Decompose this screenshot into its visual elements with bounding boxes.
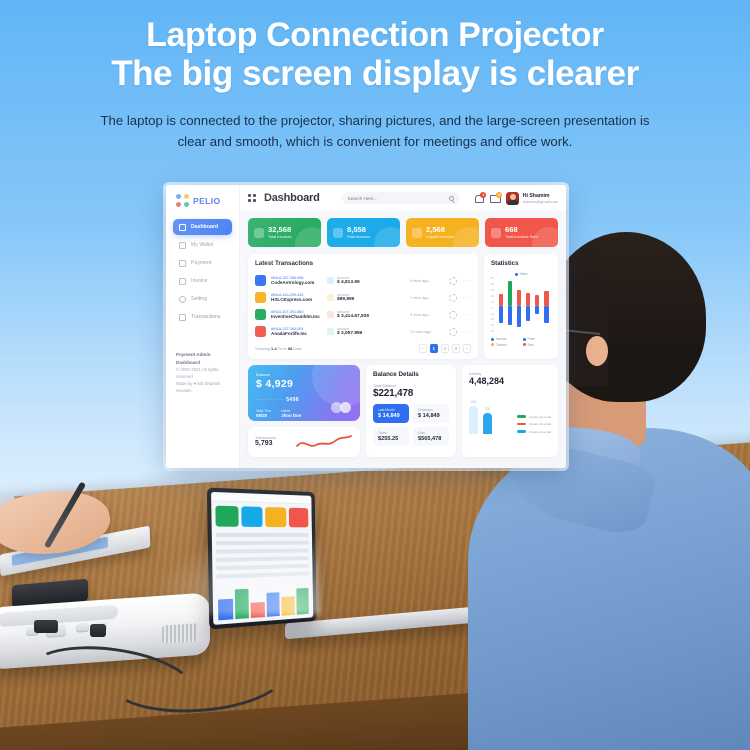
stat-label: Unpaid Invoices [426,234,454,239]
legend-label: Sent [528,343,535,347]
legend-label: Taxinvo [496,343,507,347]
sidebar-item-label: Setting [191,296,207,302]
balance-cell-taxes[interactable]: Taxes $255.25 [373,427,409,446]
dashboard-content: 32,568 Total Invoices 8,558 Paid Invoice… [240,211,566,464]
card-number: ···· ···· ···· 5498 [256,397,352,403]
page-title: Dashboard [264,192,320,204]
wallet-column: Balance $ 4,929 ···· ···· ···· 5498 Vali… [248,365,360,457]
projector-light-glow [120,520,320,615]
card-icon [179,260,186,267]
showing-text: Showing 1-4 From 88 Data [255,346,302,351]
y-tick: 0 [491,308,498,311]
balance-label: Balance [256,372,352,377]
total-balance-value: $221,478 [373,388,449,399]
legend-item: Invoice all email [517,430,551,434]
chart-bar-group [534,278,542,334]
sidebar-item-label: Transactions [191,314,221,320]
transactions-summary-card[interactable]: Transactions 5,793 [248,427,360,457]
y-tick: 40 [491,331,498,334]
transaction-amount: $ 4,813.99 [337,280,360,285]
promo-banner: Laptop Connection Projector The big scre… [0,0,750,152]
more-options-icon[interactable]: ··· [462,329,471,335]
y-tick: 30 [491,290,498,293]
stat-value: 668 [505,226,538,234]
pagination-prev[interactable]: ‹ [419,344,428,353]
mastercard-icon [331,402,351,413]
card-last4: 5498 [286,397,299,403]
panel-title: Latest Transactions [255,260,471,267]
chart-top-legend-label: Sales [520,272,528,276]
valid-thru-value: 09/25 [256,413,271,418]
avatar [506,192,519,205]
chart-top-legend: Sales [491,272,551,276]
bell-icon[interactable]: 3 [474,194,483,203]
sidebar-item-payment[interactable]: Payment [173,255,232,271]
amount-icon [327,294,334,301]
gear-icon[interactable] [449,311,457,319]
sidebar-item-transactions[interactable]: Transactions [173,309,232,325]
stat-label: Total Invoices [268,234,292,239]
balance-cell-expenses[interactable]: Expenses $ 14,849 [413,404,449,423]
credit-card[interactable]: Balance $ 4,929 ···· ···· ···· 5498 Vali… [248,365,360,421]
transaction-time: 12 mins ago [410,330,444,334]
topbar-actions: 3 12 Hi Shamim shamim@gmail.com [474,192,558,205]
invoice-icon [179,278,186,285]
y-tick: 10 [491,302,498,305]
cable-plug-2 [90,624,106,637]
stat-value: 32,568 [268,226,292,234]
legend-label: Price [528,337,535,341]
legend-item: Invoice all email [517,415,551,419]
y-tick: 10 [491,314,498,317]
legend-label: Invoice all email [529,422,551,426]
pagination-page-3[interactable]: 3 [452,344,461,353]
transaction-icon [255,309,266,320]
pagination-next[interactable]: › [463,344,472,353]
sidebar-item-label: Invoice [191,278,207,284]
showing-total: 88 [288,346,292,351]
mail-icon[interactable]: 12 [490,194,499,203]
cell-label: Taxes [378,431,404,435]
more-options-icon[interactable]: ··· [462,312,471,318]
legend-item: Invoice all email [517,422,551,426]
card-name-value: Jhon Doe [281,413,301,418]
dashboard-topbar: Dashboard 3 12 Hi Shamim shamim@gmail.co… [240,185,566,211]
sidebar-footer-credit: Made by ♥ Md Shamim Hossain [176,380,232,394]
transaction-amount: $ 3,414.67,939 [337,314,369,319]
search-icon[interactable] [449,196,454,201]
showing-prefix: Showing [255,346,270,351]
projector-button-3 [76,623,89,633]
balance-details-panel: Balance Details Total Balance $221,478 L… [366,365,456,457]
transfer-icon [179,314,186,321]
table-row[interactable]: #INLA-107-391-660 InventiveChamblm.Inc A… [255,306,471,323]
person-ear [586,336,608,366]
y-tick: 50 [491,278,498,281]
chart-bar-group [516,278,524,334]
transaction-time: 9 mins ago [410,313,444,317]
chart-y-axis: 50 40 30 20 10 0 10 20 30 40 [491,278,498,334]
cell-label: Last Month [378,408,404,412]
showing-mid: From [278,346,287,351]
sidebar-item-invoice[interactable]: Invoice [173,273,232,289]
sparkline-chart [295,433,353,451]
legend-label: Income [496,337,506,341]
brand-logo[interactable]: PELIO [173,194,232,207]
projected-dashboard-screen: PELIO Dashboard My Wallet Payment Invoic… [166,185,566,468]
activity-bar-value: 176 [485,407,490,411]
transaction-name: CodeAstrology.com [271,280,322,285]
activity-bar-1: 212 [469,406,478,433]
more-options-icon[interactable]: ··· [462,278,471,284]
transaction-icon [255,326,266,337]
amount-icon [327,311,334,318]
middle-row: Latest Transactions #INLA-237-306-958 Co… [248,254,558,359]
sidebar-item-label: My Wallet [191,242,214,248]
gear-icon [179,296,186,303]
send-icon [491,228,501,238]
transaction-name: AnadaForlife.Inc [271,331,322,336]
transaction-icon [255,275,266,286]
chart-bar-group [543,278,551,334]
transaction-name: InventiveChamblm.Inc [271,314,322,319]
home-icon [179,224,186,231]
stat-label: Paid Invoices [347,234,370,239]
card-name-label: Name [281,409,301,413]
user-menu[interactable]: Hi Shamim shamim@gmail.com [506,192,558,205]
card-number-mask: ···· ···· ···· [256,397,284,402]
table-row[interactable]: #INLA-237-306-958 CodeAstrology.com Amou… [255,272,471,289]
bottom-row: Balance $ 4,929 ···· ···· ···· 5498 Vali… [248,365,558,457]
four-dot-logo-icon [176,194,189,207]
latest-transactions-panel: Latest Transactions #INLA-237-306-958 Co… [248,254,478,359]
y-tick: 40 [491,284,498,287]
activity-legend: Invoice all email Invoice all email Invo… [517,415,551,434]
gear-icon[interactable] [449,328,457,336]
stat-cards: 32,568 Total Invoices 8,558 Paid Invoice… [248,218,558,247]
activity-value: 4,48,284 [469,376,551,386]
legend-item: Price [523,337,552,341]
clock-icon [412,228,422,238]
amount-icon [327,277,334,284]
cell-value: $ 14,849 [378,413,404,419]
pagination-page-2[interactable]: 2 [441,344,450,353]
y-tick: 20 [491,296,498,299]
chart-bar-group [498,278,506,334]
table-row[interactable]: #INLA-154-290-443 HSLCExpress.com Amount… [255,289,471,306]
statistics-bar-chart: 50 40 30 20 10 0 10 20 30 40 [491,278,551,334]
legend-item: Sent [523,343,552,347]
user-email: shamim@gmail.com [523,199,558,204]
showing-range: 1-4 [271,346,277,351]
valid-thru-label: Valid Thru [256,409,271,413]
doc-icon [254,228,264,238]
panel-title: Balance Details [373,371,449,378]
more-options-icon[interactable]: ··· [462,295,471,301]
sidebar-item-setting[interactable]: Setting [173,291,232,307]
cable-plug-1 [34,620,58,633]
transaction-name: HSLCExpress.com [271,297,322,302]
grid-icon[interactable] [248,194,256,202]
search-input[interactable] [348,196,449,201]
legend-item: Taxinvo [491,343,520,347]
dashboard-sidebar: PELIO Dashboard My Wallet Payment Invoic… [166,185,240,468]
gear-icon[interactable] [449,294,457,302]
sidebar-footer-copyright: © 2020-2021 All rights reserved [176,366,232,380]
search-box[interactable] [342,192,460,204]
stat-card-invoices-sent[interactable]: 668 Total Invoices Sent [485,218,558,247]
balance-cell-gain[interactable]: Gain $565,478 [413,427,449,446]
balance-value: $ 4,929 [256,378,352,390]
cell-label: Expenses [418,408,444,412]
promo-headline-line2: The big screen display is clearer [0,54,750,93]
transaction-icon [255,292,266,303]
mini-transactions-value: 5,793 [255,440,276,447]
stat-card-total-invoices[interactable]: 32,568 Total Invoices [248,218,321,247]
wallet-icon [179,242,186,249]
sidebar-item-dashboard[interactable]: Dashboard [173,219,232,235]
amount-icon [327,328,334,335]
legend-label: Invoice all email [529,430,551,434]
activity-panel: Activity 4,48,284 212 176 Invoice [462,365,558,457]
cell-value: $565,478 [418,436,444,442]
activity-bar-2: 176 [483,413,492,433]
legend-item: Income [491,337,520,341]
brand-name: PELIO [193,196,221,206]
cell-value: $255.25 [378,436,404,442]
cell-value: $ 14,849 [418,413,444,419]
sidebar-footer-title: Payment Admin Dashboard [176,351,232,366]
legend-label: Invoice all email [529,415,551,419]
chart-legend: Income Price Taxinvo Sent [491,337,551,347]
dashboard-main: Dashboard 3 12 Hi Shamim shamim@gmail.co… [240,185,566,468]
y-tick: 30 [491,325,498,328]
panel-title: Statistics [491,260,551,267]
stat-card-unpaid-invoices[interactable]: 2,568 Unpaid Invoices [406,218,479,247]
stat-value: 2,568 [426,226,454,234]
chart-bar-group [525,278,533,334]
bell-badge: 3 [480,192,486,198]
promo-headline-line1: Laptop Connection Projector [146,16,604,54]
transaction-amount: $89,899 [337,297,354,302]
mail-badge: 12 [496,192,502,198]
activity-bar-value: 212 [471,400,476,404]
sidebar-item-my-wallet[interactable]: My Wallet [173,237,232,253]
pagination: ‹ 1 2 3 › [419,344,472,353]
pagination-page-1[interactable]: 1 [430,344,439,353]
transaction-time: 5 mins ago [410,279,444,283]
statistics-panel: Statistics Sales 50 40 30 20 10 0 [484,254,558,359]
activity-bars: 212 176 [469,390,492,434]
sidebar-item-label: Payment [191,260,211,266]
stat-card-paid-invoices[interactable]: 8,558 Paid Invoices [327,218,400,247]
cell-label: Gain [418,431,444,435]
balance-cell-last-month[interactable]: Last Month $ 14,849 [373,404,409,423]
gear-icon[interactable] [449,277,457,285]
y-tick: 20 [491,319,498,322]
sidebar-footer: Payment Admin Dashboard © 2020-2021 All … [173,351,232,394]
stat-label: Total Invoices Sent [505,234,538,239]
chart-bar-group [507,278,515,334]
table-row[interactable]: #INLA-237-360-004 AnadaForlife.Inc Amoun… [255,323,471,340]
sidebar-item-label: Dashboard [191,224,218,230]
transaction-time: 7 mins ago [410,296,444,300]
promo-headline: Laptop Connection Projector The big scre… [0,16,750,93]
check-icon [333,228,343,238]
transaction-amount: $ 3,057.899 [337,331,362,336]
balance-cells: Last Month $ 14,849 Expenses $ 14,849 Ta… [373,404,449,446]
stat-value: 8,558 [347,226,370,234]
promo-subtext: The laptop is connected to the projector… [55,111,695,152]
showing-suffix: Data [293,346,301,351]
table-footer: Showing 1-4 From 88 Data ‹ 1 2 3 › [255,344,471,353]
